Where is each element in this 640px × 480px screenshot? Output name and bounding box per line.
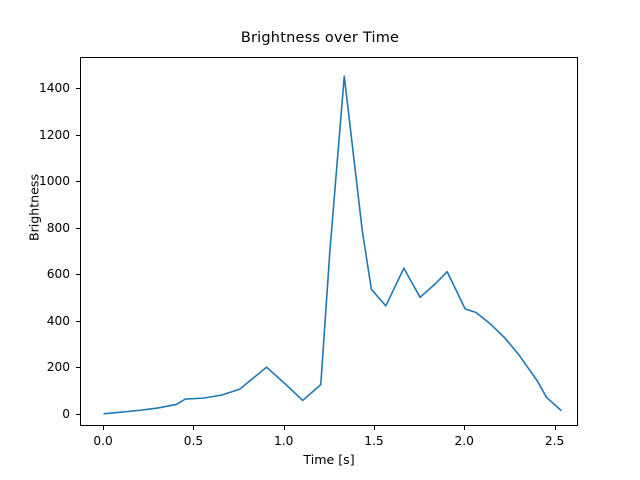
y-tick-mark [76,181,80,182]
y-axis-label: Brightness [27,148,42,268]
y-tick-mark [76,135,80,136]
x-tick-mark [193,426,194,430]
x-tick-mark [103,426,104,430]
x-tick-mark [555,426,556,430]
y-tick-label: 600 [4,267,70,281]
series-line [81,58,579,427]
x-tick-label: 2.0 [455,434,474,448]
y-tick-mark [76,321,80,322]
x-tick-mark [374,426,375,430]
y-tick-label: 0 [4,407,70,421]
y-tick-mark [76,228,80,229]
y-tick-mark [76,414,80,415]
y-tick-mark [76,88,80,89]
chart-title: Brightness over Time [0,30,640,46]
y-tick-label: 1200 [4,128,70,142]
x-tick-label: 0.5 [184,434,203,448]
y-tick-mark [76,274,80,275]
brightness-line [104,76,561,414]
y-tick-label: 200 [4,360,70,374]
plot-area [80,57,578,426]
x-tick-label: 2.5 [545,434,564,448]
y-tick-label: 1400 [4,81,70,95]
chart-figure: Brightness over Time 0200400600800100012… [0,0,640,480]
x-tick-mark [464,426,465,430]
x-tick-mark [284,426,285,430]
x-tick-label: 1.0 [274,434,293,448]
x-axis-label: Time [s] [80,452,578,467]
x-tick-label: 1.5 [364,434,383,448]
y-tick-mark [76,367,80,368]
x-tick-label: 0.0 [93,434,112,448]
y-tick-label: 400 [4,314,70,328]
